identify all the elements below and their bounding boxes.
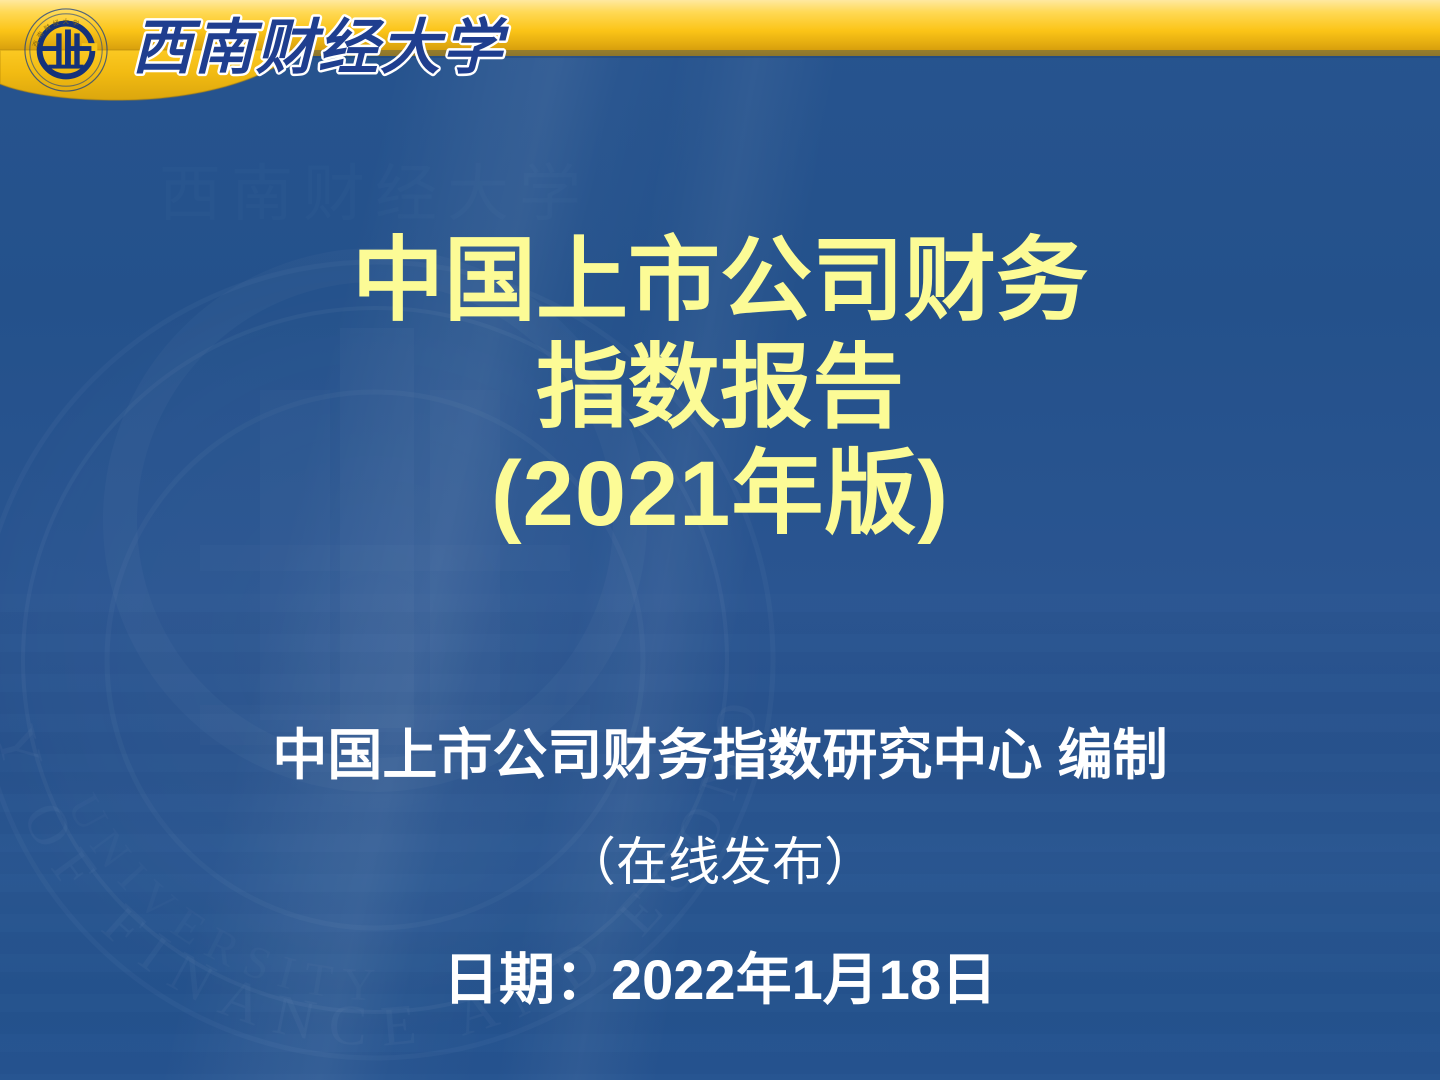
byline-organization: 中国上市公司财务指数研究中心 编制 xyxy=(0,722,1440,788)
title-line-2: 指数报告 xyxy=(0,335,1440,442)
title-line-1: 中国上市公司财务 xyxy=(0,228,1440,335)
university-name-script: 西南财经大学 xyxy=(128,8,548,86)
slide-byline: 中国上市公司财务指数研究中心 编制 （在线发布） xyxy=(0,722,1440,894)
byline-release-note: （在线发布） xyxy=(0,832,1440,894)
university-logo-icon: 西南财经大学 xyxy=(17,6,115,94)
presentation-slide: Y OF FINANCE AND ECONOMICS UNIVERSITY 西南… xyxy=(0,0,1440,1080)
university-name-text: 西南财经大学 xyxy=(132,15,509,81)
slide-title: 中国上市公司财务 指数报告 (2021年版) xyxy=(0,228,1440,548)
slide-date: 日期：2022年1月18日 xyxy=(0,935,1440,1016)
title-line-3: (2021年版) xyxy=(0,441,1440,548)
